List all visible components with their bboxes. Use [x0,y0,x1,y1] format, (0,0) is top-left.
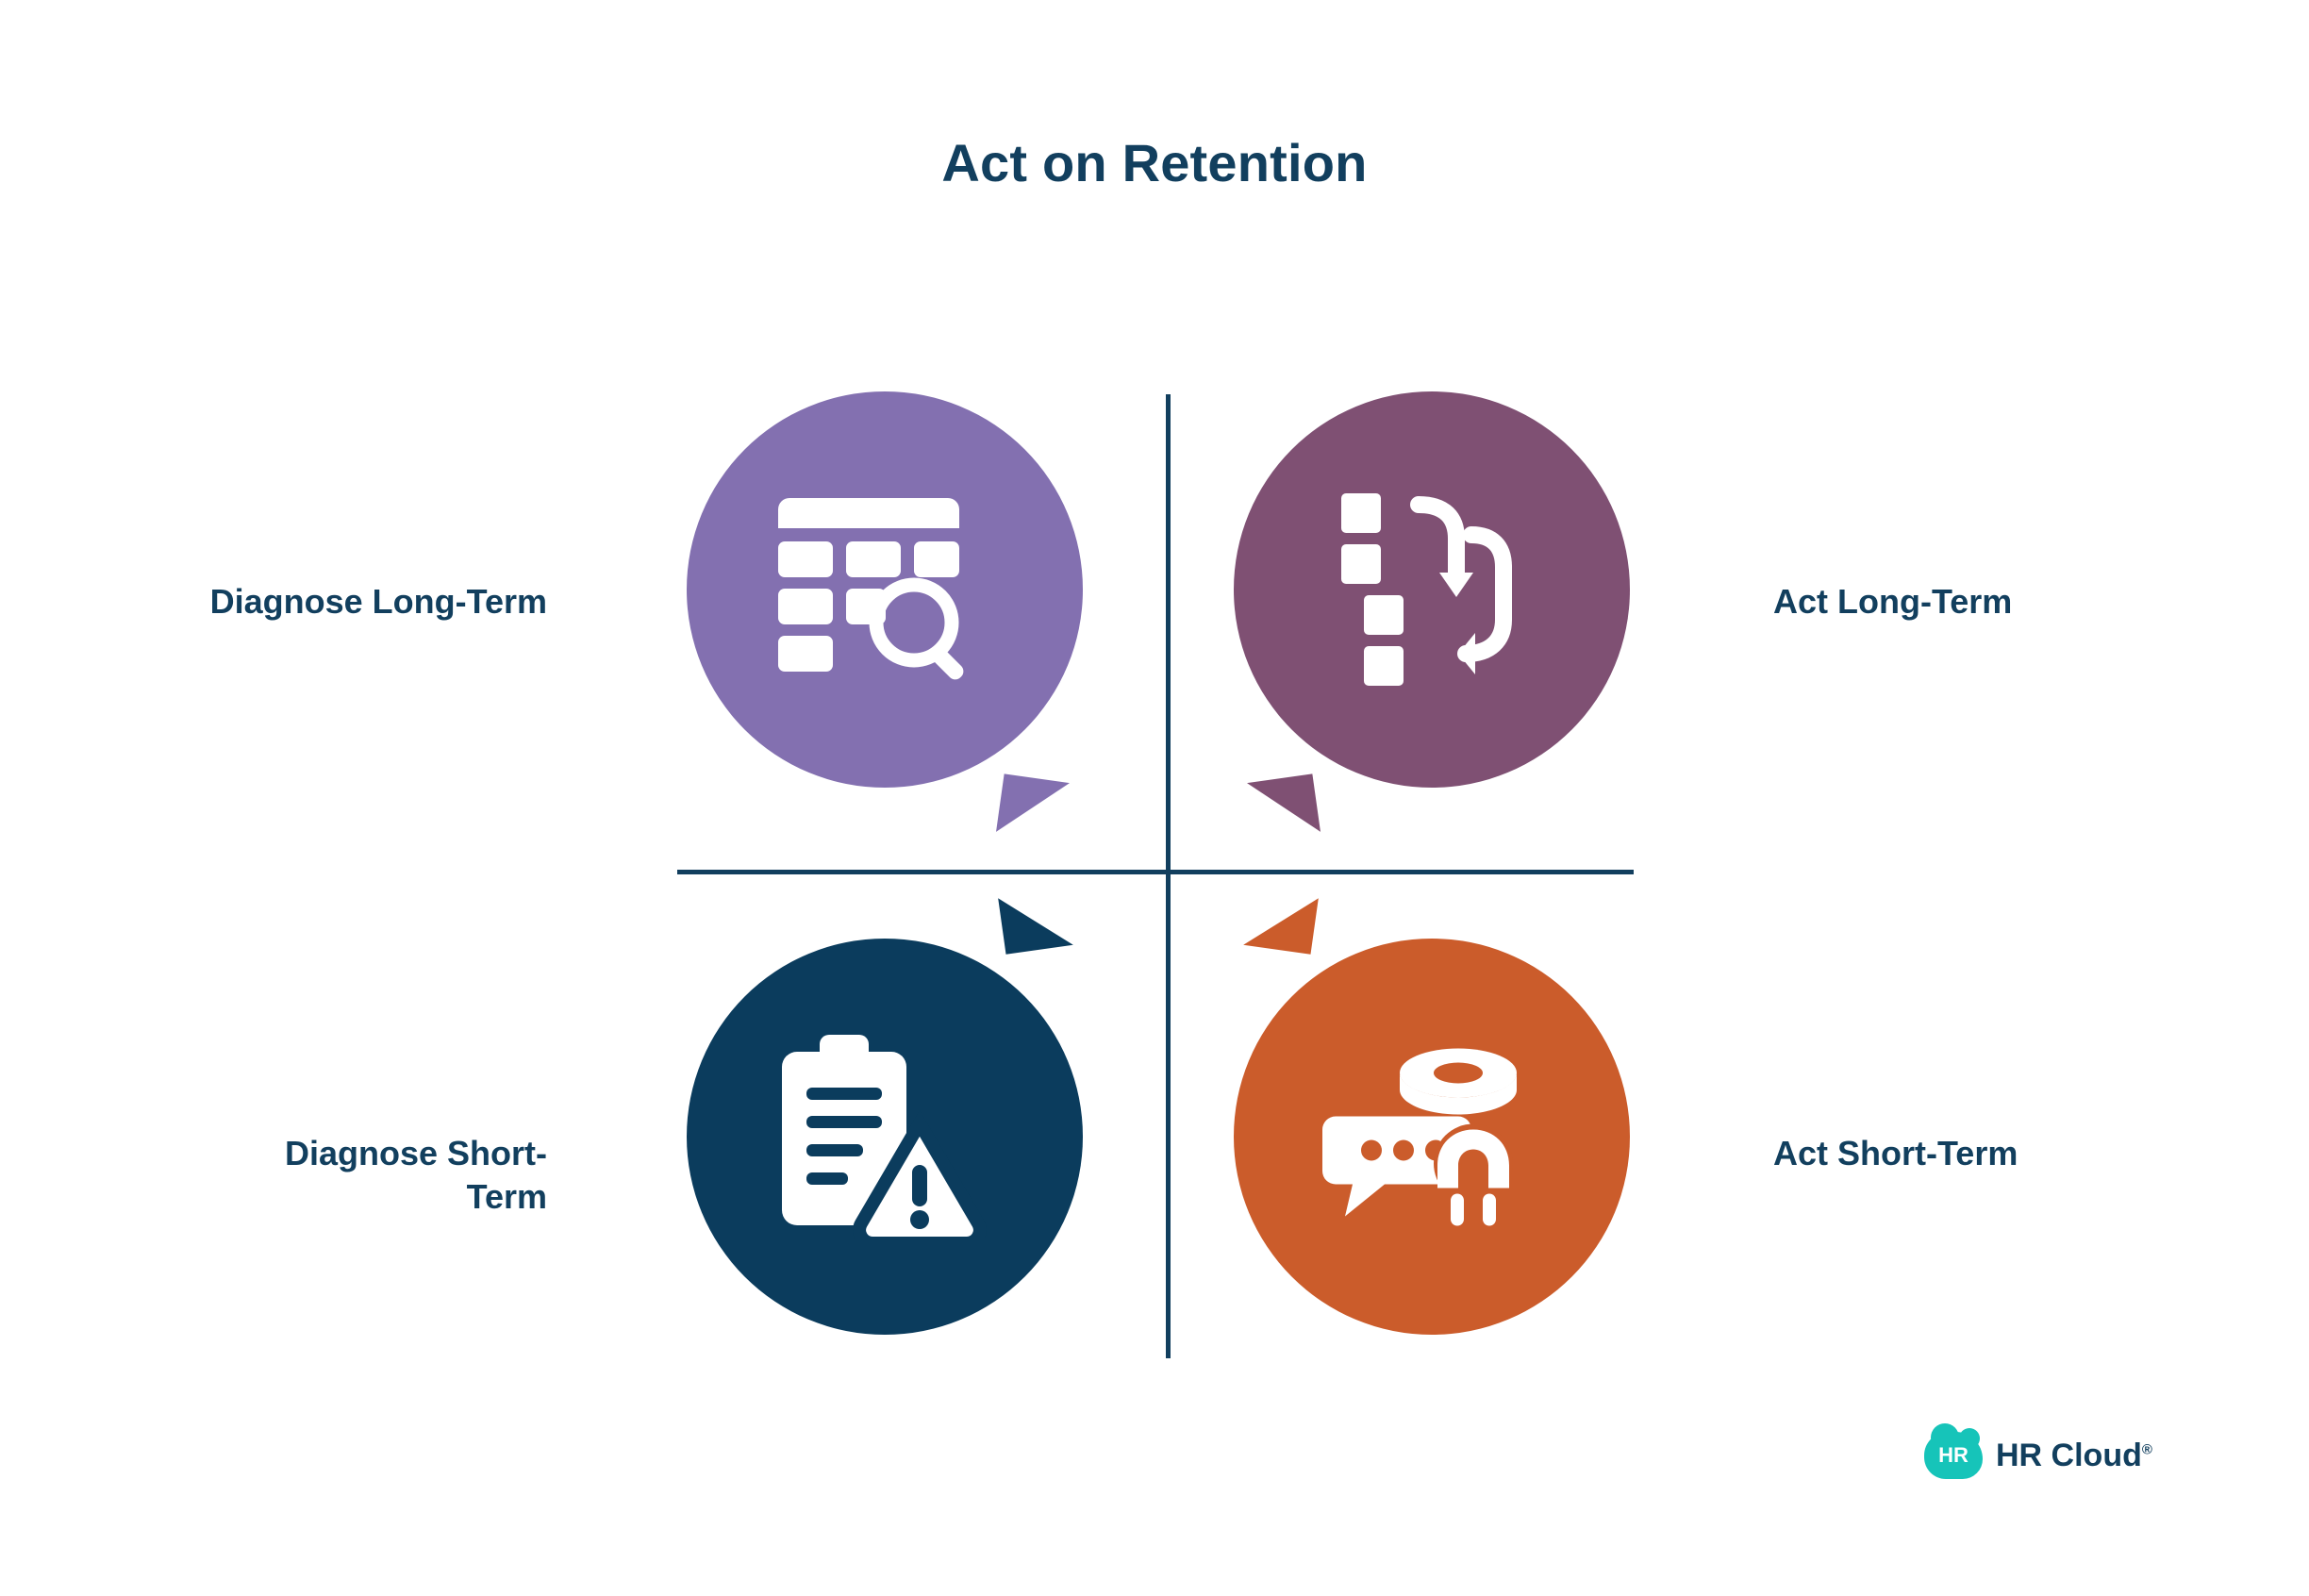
label-line-1: Diagnose Short- [285,1134,547,1172]
bubble-tail [1243,889,1319,954]
axis-horizontal-divider [677,870,1634,874]
bubble-tail [998,889,1073,954]
quadrant-label-diagnose-long-term: Diagnose Long-Term [94,580,547,623]
hr-cloud-logo-mark: HR [1924,1432,1983,1479]
bubble-tail [1247,773,1321,840]
brand-logo[interactable]: HR HR Cloud® [1924,1432,2152,1479]
quadrant-label-act-short-term: Act Short-Term [1773,1132,2226,1175]
quadrant-bubble-act-short-term[interactable] [1234,939,1630,1335]
brand-name-text: HR Cloud [1996,1438,2142,1473]
quadrant-bubble-act-long-term[interactable] [1234,391,1630,788]
table-search-icon [776,490,993,689]
quadrant-bubble-diagnose-long-term[interactable] [687,391,1083,788]
brand-name: HR Cloud® [1996,1438,2152,1474]
bubble-tail [996,773,1070,840]
axis-vertical-divider [1166,394,1171,1358]
logo-mark-text: HR [1924,1432,1983,1479]
quadrant-label-act-long-term: Act Long-Term [1773,580,2226,623]
diagram-canvas: Act on Retention [0,0,2309,1596]
quadrant-label-diagnose-short-term: Diagnose Short-Term [94,1132,547,1219]
page-title: Act on Retention [0,132,2309,193]
quadrant-bubble-diagnose-short-term[interactable] [687,939,1083,1335]
trademark-symbol: ® [2142,1441,2152,1457]
label-line-2: Term [467,1177,547,1216]
process-flow-arrows-icon [1328,486,1536,693]
clipboard-warning-icon [776,1033,993,1240]
chat-handshake-icon [1319,1036,1545,1239]
